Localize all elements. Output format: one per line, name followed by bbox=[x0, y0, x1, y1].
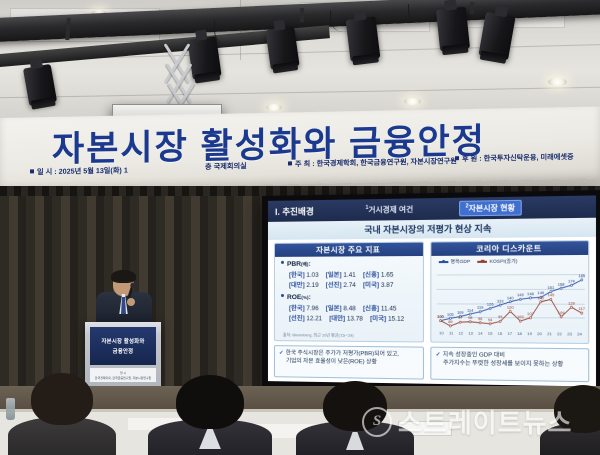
x-tick-label: 23 bbox=[565, 332, 575, 341]
chart-point-label: 129 bbox=[568, 301, 575, 305]
check-icon: ✓ bbox=[436, 352, 441, 358]
chart-point-label: 140 bbox=[507, 296, 514, 300]
chart-point-label: 96 bbox=[478, 317, 482, 321]
banner-date: 일 시 : 2025년 5월 13일(화) 1 bbox=[30, 166, 128, 178]
chart-point-label: 100 bbox=[517, 315, 524, 319]
note-right: ✓지속 성장중인 GDP 대비 주가지수는 뚜렷한 성장세를 보이지 못하는 상… bbox=[430, 347, 589, 383]
chart-point-label: 120 bbox=[507, 305, 514, 309]
chart-point-label: 97 bbox=[458, 316, 462, 320]
korea-discount-chart: 명목GDP KOSPI(종가) 10010510 bbox=[435, 257, 586, 341]
chart-point-label: 89 bbox=[448, 320, 452, 324]
metric-roe: ROE(%): [한국] 7.96 [일본] 8.48 [신흥] 11.45 [… bbox=[281, 294, 404, 323]
chart-point-label: 161 bbox=[547, 286, 554, 290]
x-tick-label: 15 bbox=[485, 332, 495, 340]
projection-screen: Ⅰ. 추진배경 1거시경제 여건 2자본시장 현황 국내 자본시장의 저평가 현… bbox=[262, 190, 600, 392]
metric-pbr: PBR(배): [한국] 1.03 [일본] 1.41 [신흥] 1.65 [대… bbox=[281, 260, 393, 289]
x-tick-label: 11 bbox=[446, 331, 456, 339]
metric-roe-label: ROE(%): bbox=[281, 294, 404, 301]
x-tick-label: 20 bbox=[535, 332, 545, 340]
podium-strip: 일 시 한국경제학회, 한국금융연구원, 자본시장연구원 bbox=[90, 368, 156, 382]
metric-pbr-label: PBR(배): bbox=[281, 260, 393, 268]
legend-item-gdp: 명목GDP bbox=[439, 259, 470, 265]
chart-point-label: 105 bbox=[447, 312, 454, 316]
panel-capital-market-indicators: 자본시장 주요 지표 PBR(배): [한국] 1.03 [일본] 1.41 [… bbox=[274, 242, 424, 343]
audience-member bbox=[8, 381, 116, 455]
chart-point-label: 119 bbox=[477, 306, 483, 310]
panel-title-right: 코리아 디스카운트 bbox=[431, 241, 588, 256]
podium-sign-line1: 자본시장 활성화와 bbox=[102, 337, 145, 345]
chart-point-label: 107 bbox=[527, 312, 534, 316]
chart-point-label: 98 bbox=[468, 316, 472, 320]
audience-member bbox=[148, 385, 272, 455]
note-left: ✓한국 주식시장은 주가가 저평가(PBR)되어 있고, 기업의 자본 효율성이… bbox=[274, 345, 424, 379]
legend-item-kospi: KOSPI(종가) bbox=[478, 259, 518, 265]
banner-sponsor: 후 원 : 한국투자신탁운용, 미래에셋증 bbox=[455, 152, 574, 164]
truss-support bbox=[470, 2, 474, 14]
chart-point-label: 109 bbox=[457, 311, 464, 315]
downlight-icon bbox=[548, 78, 567, 86]
presentation-slide: Ⅰ. 추진배경 1거시경제 여건 2자본시장 현황 국내 자본시장의 저평가 현… bbox=[268, 195, 596, 386]
x-tick-label: 10 bbox=[437, 331, 447, 339]
x-tick-label: 18 bbox=[515, 332, 525, 340]
chart-point-label: 140 bbox=[537, 296, 544, 300]
chart-point-label: 114 bbox=[467, 308, 473, 312]
metric-row: [한국] 1.03 [일본] 1.41 [신흥] 1.65 bbox=[281, 269, 393, 278]
panel-source-note: 출처: Bloomberg, 최근 10년 평균('15~'24) bbox=[283, 332, 354, 339]
slide-notes: ✓한국 주식시장은 주가가 저평가(PBR)되어 있고, 기업의 자본 효율성이… bbox=[274, 345, 589, 382]
tab-label: 자본시장 현황 bbox=[469, 203, 515, 213]
x-tick-label: 14 bbox=[475, 332, 485, 340]
audience-member bbox=[540, 389, 600, 455]
chart-point-label: 126 bbox=[487, 302, 494, 306]
chart-point-label: 168 bbox=[558, 282, 565, 286]
audience-member bbox=[296, 387, 414, 455]
metric-row: [한국] 7.96 [일본] 8.48 [신흥] 11.45 bbox=[281, 303, 404, 312]
stage-light-icon bbox=[265, 26, 299, 70]
banner-place: 층 국제회의실 bbox=[205, 161, 247, 172]
chart-point-label: 145 bbox=[517, 293, 524, 297]
chart-point-label: 99 bbox=[498, 315, 502, 319]
podium-strip-line1: 일 시 bbox=[120, 371, 126, 375]
slide-section-title: Ⅰ. 추진배경 bbox=[275, 205, 314, 218]
ceiling-seam bbox=[0, 87, 600, 98]
metric-row: [대만] 2.19 [선진] 2.74 [미국] 3.87 bbox=[281, 280, 393, 289]
downlight-icon bbox=[404, 98, 421, 105]
slide-tab-macro[interactable]: 1거시경제 여건 bbox=[359, 201, 419, 217]
panel-title-left: 자본시장 주요 지표 bbox=[275, 243, 423, 257]
x-tick-label: 22 bbox=[554, 332, 564, 341]
banner-host: 주 최 : 한국경제학회, 한국금융연구원, 자본시장연구원 bbox=[288, 156, 457, 169]
x-tick-label: 19 bbox=[525, 332, 535, 340]
chart-legend: 명목GDP KOSPI(종가) bbox=[439, 259, 518, 266]
slide-headline: 국내 자본시장의 저평가 현상 지속 bbox=[268, 218, 596, 240]
chart-point-label: 145 bbox=[547, 293, 554, 297]
x-tick-label: 24 bbox=[575, 332, 585, 341]
x-tick-label: 13 bbox=[466, 331, 476, 339]
chart-point-label: 185 bbox=[578, 274, 585, 278]
x-tick-label: 16 bbox=[495, 332, 505, 340]
chart-point-label: 117 bbox=[578, 307, 585, 311]
chart-point-label: 109 bbox=[558, 311, 565, 315]
chart-point-label: 100 bbox=[437, 315, 444, 319]
downlight-icon bbox=[266, 104, 282, 111]
truss-support bbox=[300, 8, 304, 22]
x-tick-label: 12 bbox=[456, 331, 466, 339]
conference-room-photo: 자본시장 활성화와 금융안정 일 시 : 2025년 5월 13일(화) 1 층… bbox=[0, 0, 600, 455]
chart-point-label: 133 bbox=[497, 299, 504, 303]
chart-plot-area: 1001051091141191261331401451481491611681… bbox=[437, 267, 585, 333]
check-icon: ✓ bbox=[279, 350, 284, 356]
chart-point-label: 94 bbox=[488, 318, 492, 322]
metric-row: [선진] 12.21 [대만] 13.78 [미국] 15.12 bbox=[281, 313, 404, 323]
podium-sign: 자본시장 활성화와 금융안정 bbox=[90, 327, 156, 365]
x-tick-label: 17 bbox=[505, 332, 515, 340]
chart-data-labels: 1001051091141191261331401451481491611681… bbox=[437, 267, 585, 333]
x-tick-label: 21 bbox=[544, 332, 554, 341]
slide-tab-capital-market[interactable]: 2자본시장 현황 bbox=[459, 199, 521, 216]
stage-light-icon bbox=[436, 7, 470, 52]
slide-panels: 자본시장 주요 지표 PBR(배): [한국] 1.03 [일본] 1.41 [… bbox=[274, 240, 589, 344]
chart-point-label: 174 bbox=[568, 279, 575, 283]
event-banner: 자본시장 활성화와 금융안정 일 시 : 2025년 5월 13일(화) 1 층… bbox=[0, 106, 600, 190]
panel-korea-discount: 코리아 디스카운트 명목GDP KOSPI(종가) bbox=[430, 240, 589, 344]
podium-strip-line2: 한국경제학회, 한국금융연구원, 자본시장연구원 bbox=[95, 376, 151, 380]
chart-x-axis: 101112131415161718192021222324 bbox=[437, 331, 585, 341]
podium-sign-line2: 금융안정 bbox=[113, 347, 134, 355]
tab-label: 거시경제 여건 bbox=[368, 204, 413, 214]
chart-point-label: 148 bbox=[527, 292, 534, 296]
